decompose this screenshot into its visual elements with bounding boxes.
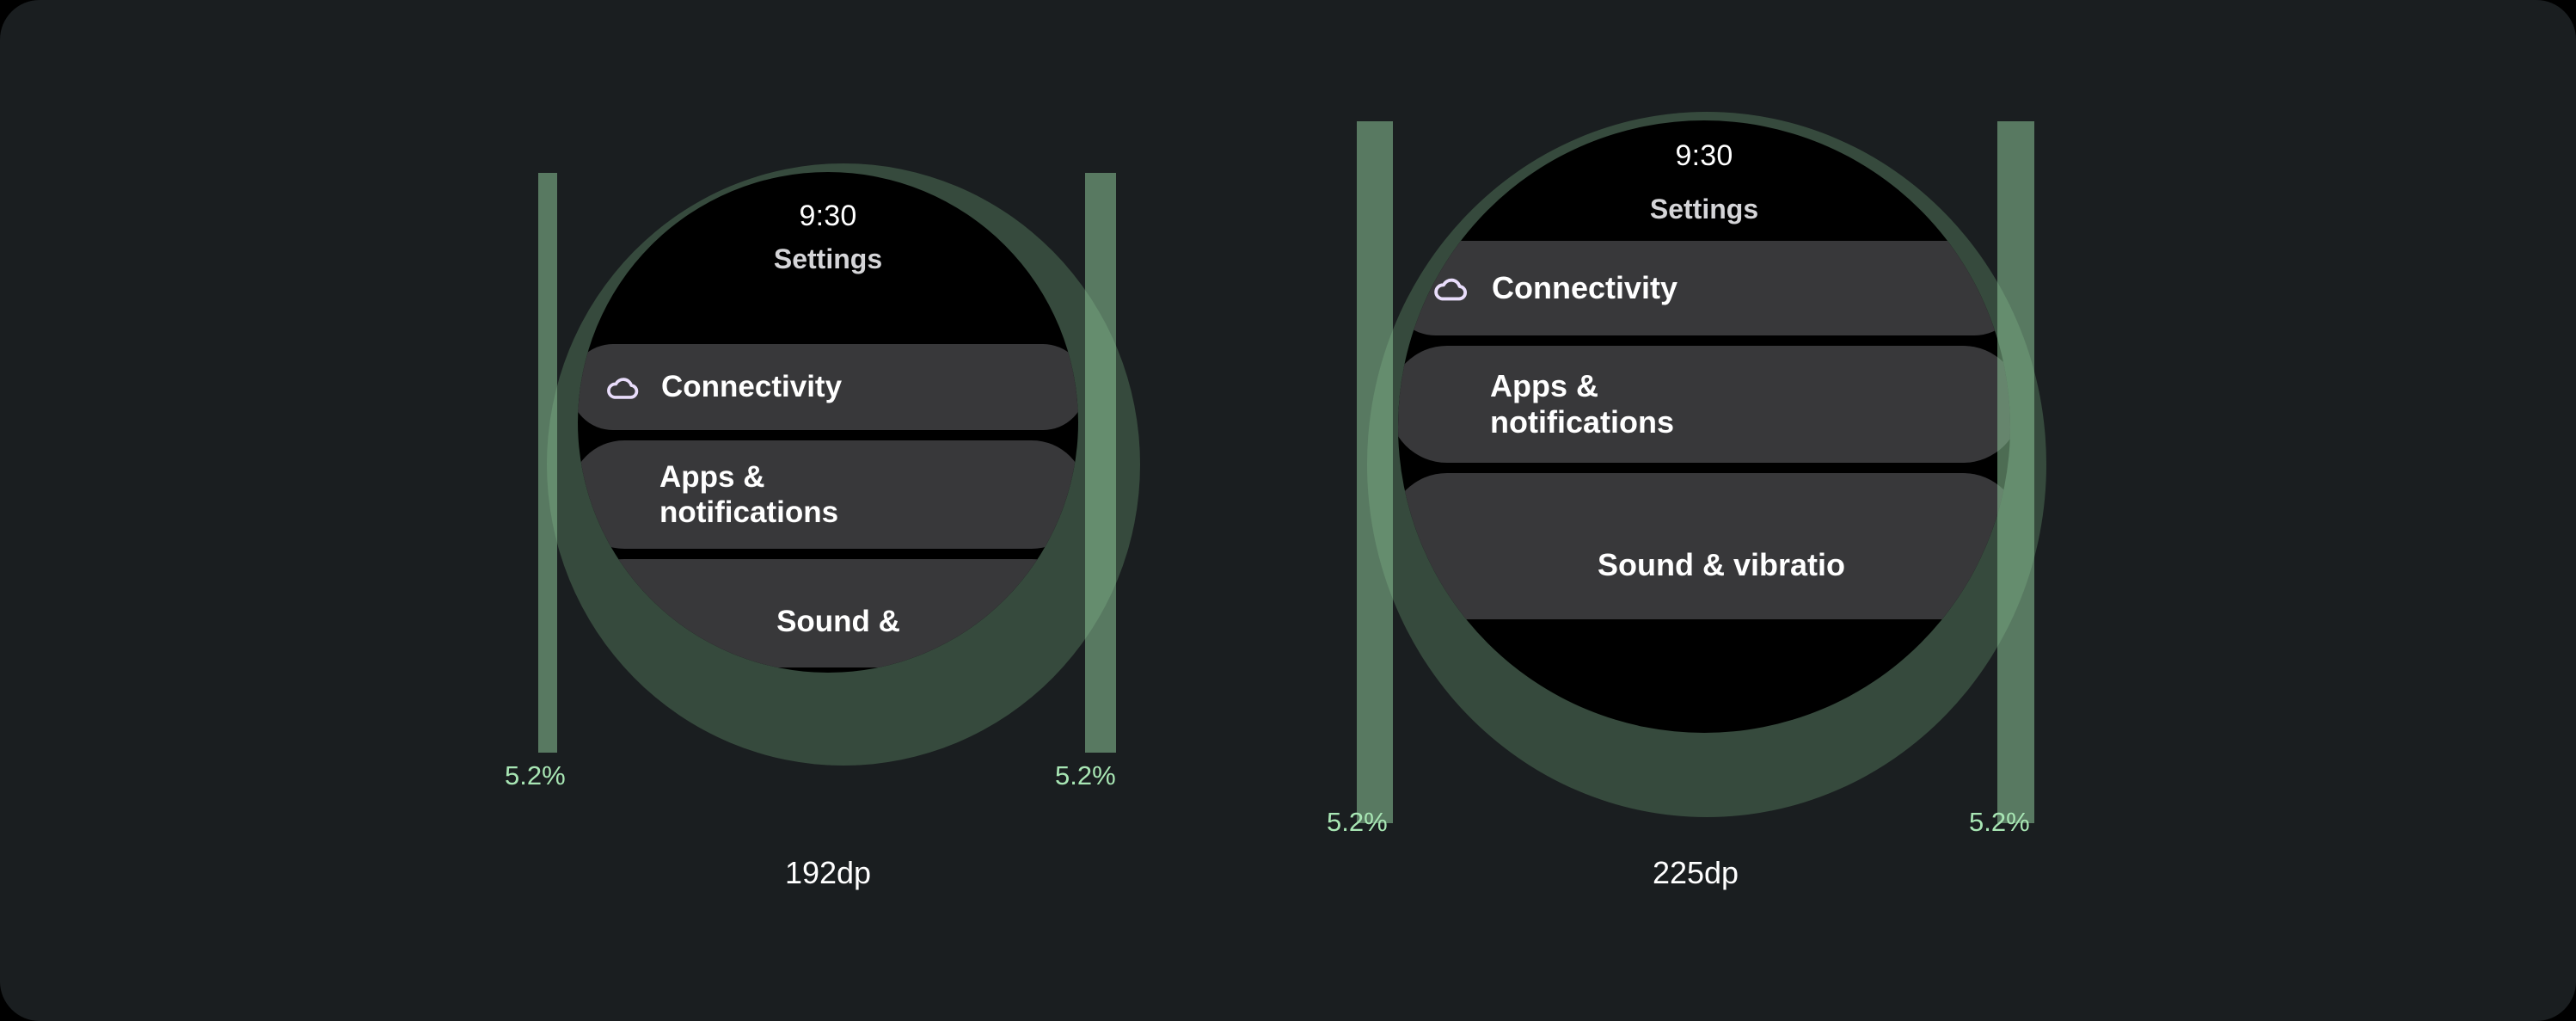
apps-grid-icon bbox=[604, 477, 641, 513]
watch-time-192: 9:30 bbox=[578, 200, 1078, 233]
watch-list-item-sound-vibration-225[interactable]: Sound & vibratio bbox=[1398, 473, 2010, 619]
specimen-225dp: 9:30 Settings Connectivity bbox=[1290, 0, 2576, 1021]
watch-list-item-apps-notifications-225[interactable]: Apps & notifications bbox=[1398, 346, 2010, 463]
margin-percent-right-225: 5.2% bbox=[1969, 807, 2030, 838]
cloud-icon bbox=[604, 368, 642, 406]
watch-time-225: 9:30 bbox=[1398, 139, 2010, 173]
watch-list-item-label: Apps & notifications bbox=[1490, 368, 1674, 441]
watch-screen-title-225: Settings bbox=[1398, 194, 2010, 225]
cloud-icon bbox=[1432, 268, 1471, 308]
watch-list-item-connectivity-225[interactable]: Connectivity bbox=[1398, 241, 2010, 335]
watch-list-item-label: Sound & bbox=[776, 604, 900, 639]
watch-list-item-label: Sound & vibratio bbox=[1598, 547, 1845, 583]
screenshot-stage: 9:30 Settings Connectivity bbox=[0, 0, 2576, 1021]
size-label-225: 225dp bbox=[1290, 855, 2101, 891]
watch-list-item-apps-notifications-192[interactable]: Apps & notifications bbox=[578, 440, 1078, 549]
watch-list-item-connectivity-192[interactable]: Connectivity bbox=[578, 344, 1078, 430]
margin-percent-right-192: 5.2% bbox=[1055, 760, 1116, 791]
specimen-192dp: 9:30 Settings Connectivity bbox=[0, 0, 1290, 1021]
margin-percent-left-225: 5.2% bbox=[1327, 807, 1388, 838]
watch-list-item-label: Connectivity bbox=[661, 369, 842, 404]
margin-bar-right-192 bbox=[1085, 173, 1116, 753]
watch-screen-title-192: Settings bbox=[578, 243, 1078, 275]
margin-percent-left-192: 5.2% bbox=[505, 760, 566, 791]
layout-panel: 9:30 Settings Connectivity bbox=[0, 0, 2576, 1021]
apps-grid-icon bbox=[1432, 385, 1469, 423]
watch-list-item-label: Connectivity bbox=[1492, 270, 1677, 306]
margin-bar-left-192 bbox=[538, 173, 557, 753]
watch-list-item-sound-vibration-192[interactable]: Sound & bbox=[578, 559, 1078, 667]
margin-bar-right-225 bbox=[1997, 121, 2034, 823]
watch-list-item-label: Apps & notifications bbox=[659, 459, 838, 531]
watch-face-192: 9:30 Settings Connectivity bbox=[578, 172, 1078, 673]
margin-bar-left-225 bbox=[1357, 121, 1393, 823]
watch-face-225: 9:30 Settings Connectivity bbox=[1398, 120, 2010, 733]
